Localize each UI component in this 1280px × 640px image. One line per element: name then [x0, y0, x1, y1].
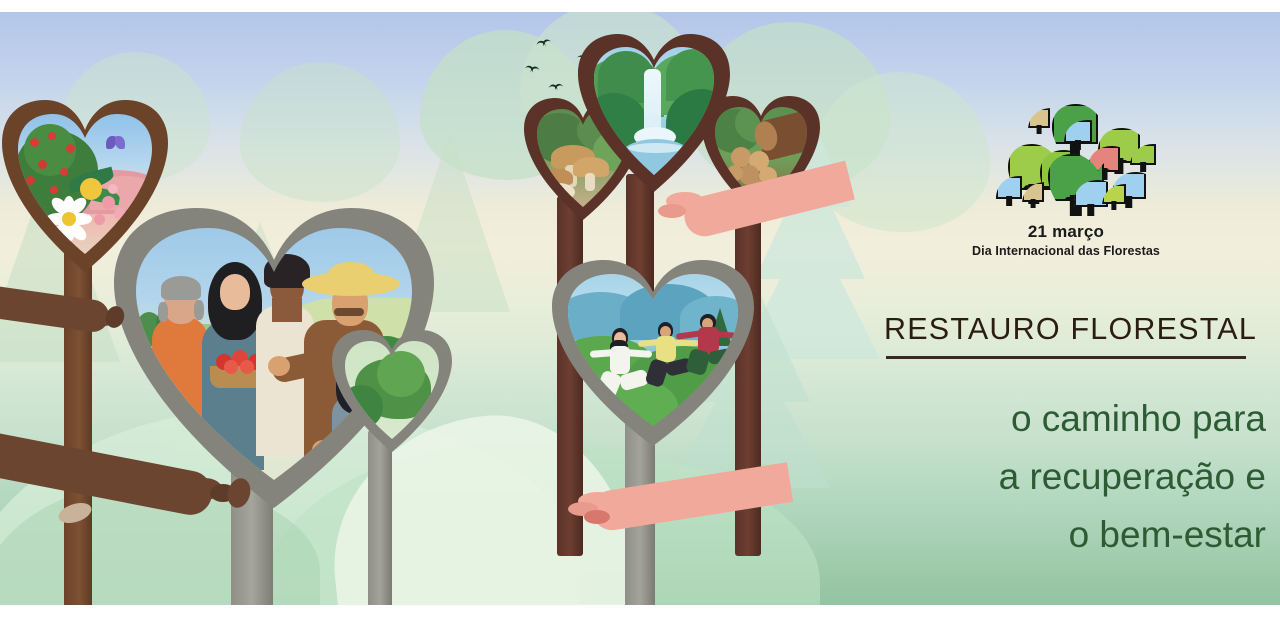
tagline-line-3: o bem-estar	[860, 506, 1266, 564]
logo-heart-tree	[1022, 182, 1044, 208]
logo-heart-tree	[1028, 108, 1050, 134]
logo-heart-tree	[1130, 144, 1156, 172]
bird-icon	[548, 83, 565, 93]
bird-icon	[535, 38, 552, 49]
logo-heart-tree	[996, 176, 1022, 206]
logo-heart-tree	[1102, 184, 1126, 210]
tagline-line-2: a recuperação e	[860, 448, 1266, 506]
tagline-line-1: o caminho para	[860, 390, 1266, 448]
tree-trunk	[368, 430, 392, 605]
logo-subtitle: Dia Internacional das Florestas	[956, 244, 1176, 258]
waterfall-icon	[644, 69, 661, 135]
hand-dark-skin	[0, 284, 130, 334]
heart-tree-children	[332, 330, 452, 605]
top-white-band	[0, 0, 1280, 12]
heart-tree-yoga	[552, 260, 754, 605]
headline-underline	[886, 356, 1246, 359]
bottom-white-band	[0, 605, 1280, 640]
logo-date: 21 março	[956, 222, 1176, 242]
illustration-scene: 21 março Dia Internacional das Florestas…	[0, 12, 1280, 605]
background-canopy-f	[240, 62, 400, 202]
butterfly-icon	[106, 136, 126, 150]
hand-dark-skin	[0, 430, 250, 500]
international-day-of-forests-logo: 21 março Dia Internacional das Florestas	[956, 102, 1176, 222]
forest-day-banner: 21 março Dia Internacional das Florestas…	[0, 0, 1280, 640]
text-panel: 21 março Dia Internacional das Florestas…	[860, 24, 1280, 605]
hand-light-skin	[640, 160, 840, 230]
hand-light-skin	[560, 462, 790, 532]
bird-icon	[524, 65, 541, 75]
tagline: o caminho para a recuperação e o bem-est…	[860, 390, 1266, 564]
headline: RESTAURO FLORESTAL	[884, 312, 1256, 347]
